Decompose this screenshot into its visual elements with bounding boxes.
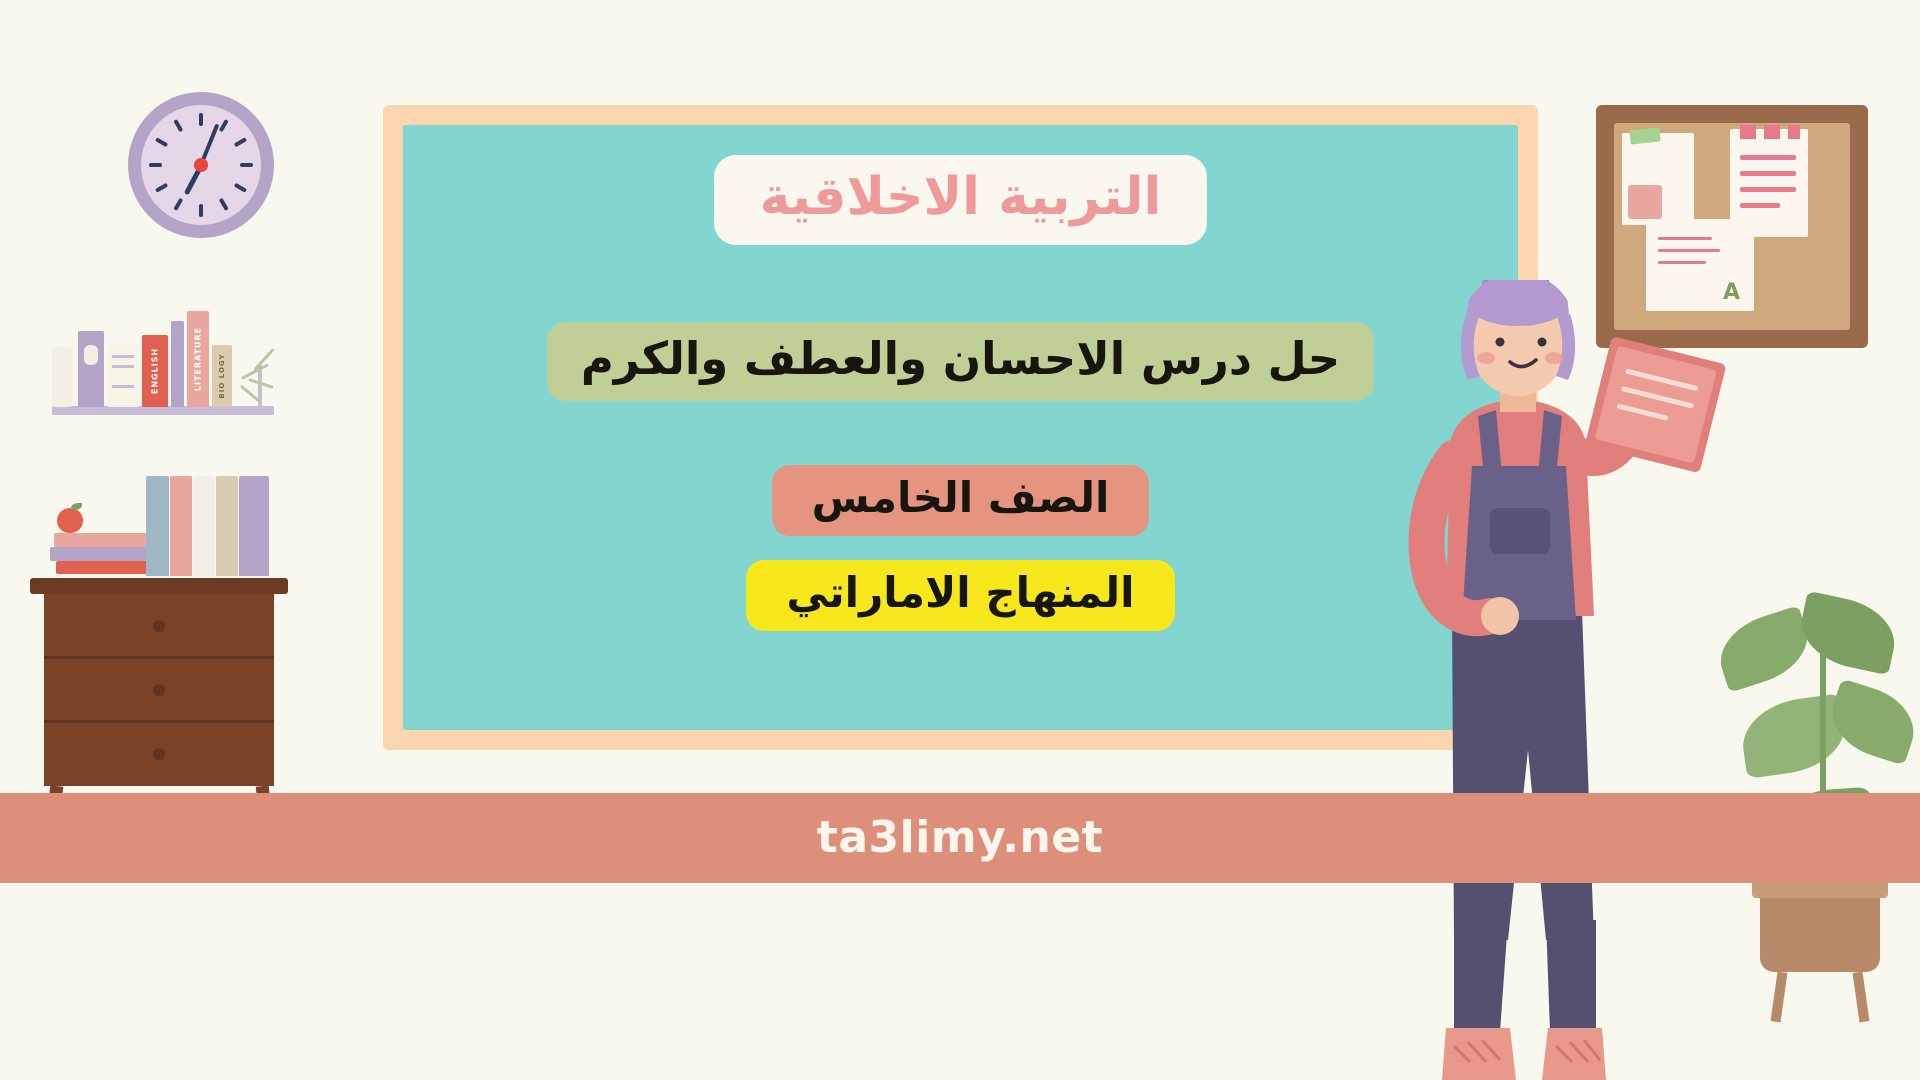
subject-title: التربية الاخلاقية <box>714 155 1208 245</box>
book-spine-biology: BIO LOGY <box>212 345 232 407</box>
bookmark-tag <box>52 347 72 407</box>
dresser-top <box>30 578 288 594</box>
poster-canvas: ENGLISH LITERATURE BIO LOGY <box>0 0 1920 1080</box>
wall-clock <box>128 92 274 238</box>
wall-shelf <box>52 406 274 415</box>
drawer-knob[interactable] <box>153 620 165 632</box>
clock-center-pin <box>194 158 208 172</box>
book-label-english: ENGLISH <box>151 348 160 394</box>
clock-face <box>141 105 261 225</box>
binder <box>239 476 269 576</box>
binder <box>146 476 169 576</box>
book-label-biology: BIO LOGY <box>218 353 226 398</box>
drawer-knob[interactable] <box>153 748 165 760</box>
book-spine <box>108 345 138 407</box>
apple-decoration <box>57 508 83 533</box>
plant-pot <box>1760 890 1880 972</box>
book-spine-plain <box>171 321 184 407</box>
shelf-books-group: ENGLISH LITERATURE BIO LOGY <box>52 300 274 407</box>
binder <box>170 476 192 576</box>
website-label: ta3limy.net <box>0 793 1920 883</box>
teacher-illustration <box>1350 280 1770 1080</box>
book-spine-english: ENGLISH <box>142 335 168 407</box>
dresser <box>30 578 288 828</box>
pinned-note <box>1622 133 1694 225</box>
drawer-knob[interactable] <box>153 684 165 696</box>
lesson-title: حل درس الاحسان والعطف والكرم <box>547 322 1374 401</box>
curriculum-label: المنهاج الاماراتي <box>746 560 1174 631</box>
grade-label: الصف الخامس <box>772 465 1150 536</box>
binder <box>216 476 238 576</box>
book-spine-literature: LITERATURE <box>187 311 209 407</box>
binder <box>193 476 215 576</box>
book-spine <box>78 331 104 407</box>
book-label-literature: LITERATURE <box>194 327 203 391</box>
